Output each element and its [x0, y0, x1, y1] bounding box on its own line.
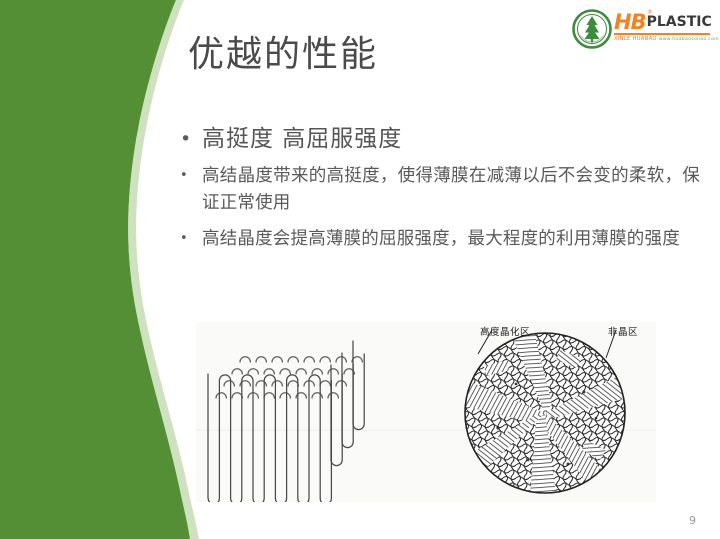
polymer-crystallinity-figure: 高度晶化区 非晶区	[196, 322, 656, 502]
list-item-label: 高挺度 高屈服强度	[202, 124, 700, 154]
bullet-marker-icon: •	[180, 163, 202, 182]
list-item-label: 高结晶度带来的高挺度，使得薄膜在减薄以后不会变的柔软，保证正常使用	[202, 163, 700, 217]
amorphous-zone-label: 非晶区	[608, 324, 638, 338]
page-number: 9	[689, 514, 696, 527]
list-item: • 高结晶度会提高薄膜的屈服强度，最大程度的利用薄膜的强度	[180, 226, 700, 253]
content-bullet-list: • 高挺度 高屈服强度 • 高结晶度带来的高挺度，使得薄膜在减薄以后不会变的柔软…	[180, 124, 700, 253]
logo-brand-suffix: PLASTIC	[647, 12, 712, 33]
bullet-marker-icon: •	[180, 226, 202, 245]
logo-wordmark: ® HBPLASTIC XINLE HUABAO www.huabaosulia…	[614, 9, 719, 44]
bullet-marker-icon: •	[180, 124, 202, 149]
logo-brand-initials: HB	[614, 12, 646, 33]
page-title: 优越的性能	[188, 33, 608, 77]
logo-company-pinyin: XINLE HUABAO	[614, 36, 657, 42]
crystalline-zone-label: 高度晶化区	[480, 324, 530, 338]
logo-subtitle: XINLE HUABAO www.huabaosuliao.com	[614, 35, 719, 44]
logo-website: www.huabaosuliao.com	[659, 37, 719, 42]
registered-trademark-icon: ®	[647, 10, 653, 16]
list-item-label: 高结晶度会提高薄膜的屈服强度，最大程度的利用薄膜的强度	[202, 226, 700, 253]
list-item: • 高结晶度带来的高挺度，使得薄膜在减薄以后不会变的柔软，保证正常使用	[180, 163, 700, 217]
slide-canvas: ® HBPLASTIC XINLE HUABAO www.huabaosulia…	[0, 0, 720, 539]
list-item: • 高挺度 高屈服强度	[180, 124, 700, 154]
